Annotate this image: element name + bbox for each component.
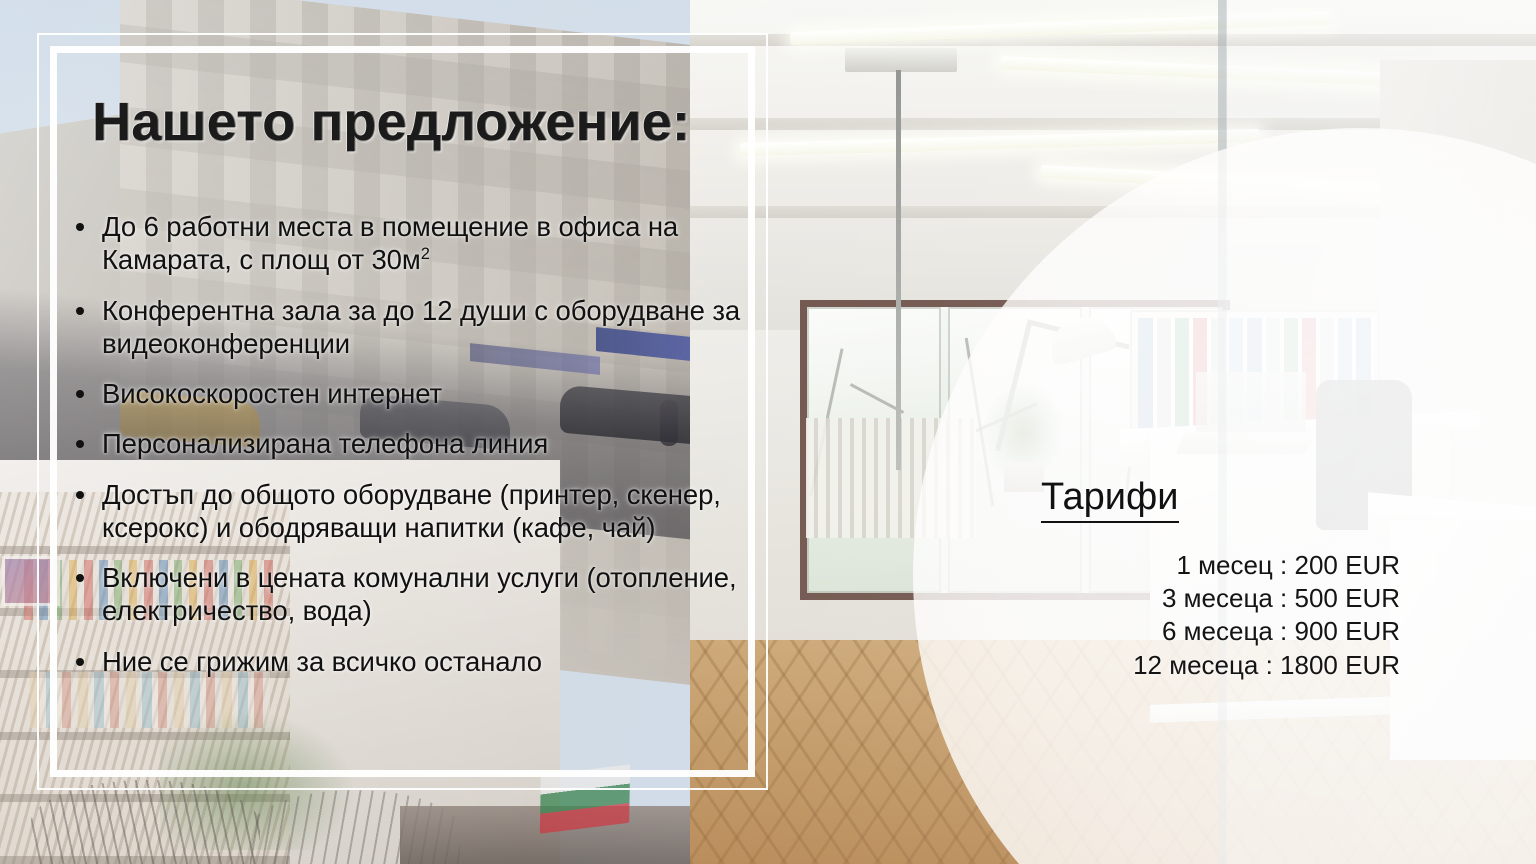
content-panel: Нашето предложение: До 6 работни места в… [62,60,752,780]
rates-panel: Тарифи 1 месец : 200 EUR 3 месеца : 500 … [1000,478,1400,682]
glass-ceiling-mount [845,48,957,72]
glass-support-rod [896,70,901,470]
bullet-text: До 6 работни места в помещение в офиса н… [102,211,678,275]
glass-partition-panel [1226,0,1536,864]
list-item: Персонализирана телефона линия [62,427,742,460]
rate-item: 3 месеца : 500 EUR [1000,582,1400,615]
picture-frame [2,556,60,606]
list-item: Включени в цената комунални услуги (отоп… [62,561,742,628]
rate-item: 6 месеца : 900 EUR [1000,615,1400,648]
page-title: Нашето предложение: [92,94,690,151]
bullet-superscript: 2 [421,245,430,263]
list-item: Конферентна зала за до 12 души с оборудв… [62,294,742,361]
list-item: Достъп до общото оборудване (принтер, ск… [62,478,742,545]
list-item: До 6 работни места в помещение в офиса н… [62,210,742,277]
rates-list: 1 месец : 200 EUR 3 месеца : 500 EUR 6 м… [1000,523,1400,682]
presentation-slide: Нашето предложение: До 6 работни места в… [0,0,1536,864]
radiator [806,418,976,538]
rates-heading: Тарифи [1041,478,1179,523]
wire-chair-left [30,780,260,864]
rate-item: 12 месеца : 1800 EUR [1000,649,1400,682]
list-item: Ние се грижим за всичко останало [62,645,742,678]
list-item: Високоскоростен интернет [62,377,742,410]
rate-item: 1 месец : 200 EUR [1000,549,1400,582]
offer-bullet-list: До 6 работни места в помещение в офиса н… [62,210,742,695]
